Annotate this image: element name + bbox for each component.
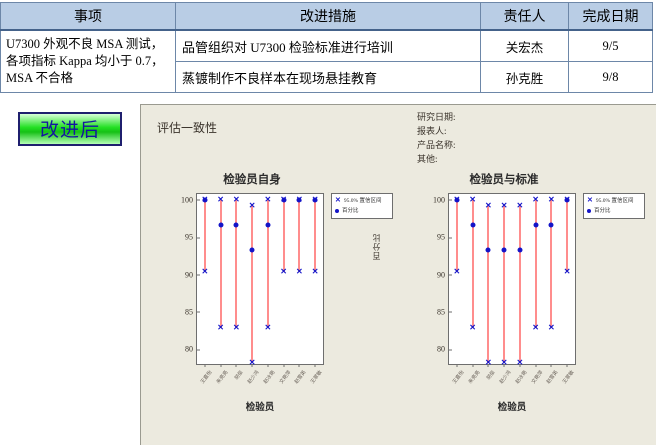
x-axis-tick-label: 朱亮亮 bbox=[466, 369, 481, 385]
confidence-interval-bar bbox=[204, 200, 206, 272]
x-axis-tick-label: 王嘉怡 bbox=[451, 369, 466, 385]
y-axis-tick: 85 bbox=[415, 307, 449, 316]
column-header-owner: 责任人 bbox=[481, 3, 569, 31]
dot-marker-icon bbox=[587, 209, 591, 213]
x-axis-tick-label: 朱亮亮 bbox=[214, 369, 229, 385]
column-header-date: 完成日期 bbox=[569, 3, 653, 31]
x-axis-tick bbox=[504, 364, 505, 367]
ci-endpoint-marker: ✕ bbox=[217, 196, 224, 204]
x-axis-tick bbox=[488, 364, 489, 367]
other-label: 其他: bbox=[417, 153, 456, 167]
y-axis-tick: 100 bbox=[163, 195, 197, 204]
percent-point-marker bbox=[533, 222, 538, 227]
percent-point-marker bbox=[470, 222, 475, 227]
x-axis-tick-label: 赵雪英 bbox=[545, 369, 560, 385]
ci-endpoint-marker: ✕ bbox=[233, 196, 240, 204]
confidence-interval-bar bbox=[487, 206, 489, 363]
plot-area: 80859095100✕✕王嘉怡✕✕朱亮亮✕✕胡俊✕✕赵少鸿✕✕赵冰艳✕✕文艳萍… bbox=[196, 193, 324, 365]
ci-endpoint-marker: ✕ bbox=[517, 202, 524, 210]
x-axis-tick bbox=[236, 364, 237, 367]
legend-label: 百分比 bbox=[594, 207, 611, 215]
ci-endpoint-marker: ✕ bbox=[280, 268, 287, 276]
y-axis-tick: 80 bbox=[415, 345, 449, 354]
due-date: 9/5 bbox=[569, 30, 653, 62]
x-axis-tick-label: 王翠敏 bbox=[309, 369, 324, 385]
reporter-label: 报表人: bbox=[417, 125, 456, 139]
legend-item-ci: ✕ 95.0% 置信区间 bbox=[335, 196, 390, 207]
ci-endpoint-marker: ✕ bbox=[469, 196, 476, 204]
x-axis-tick-label: 赵雪英 bbox=[293, 369, 308, 385]
ci-endpoint-marker: ✕ bbox=[469, 324, 476, 332]
confidence-interval-bar bbox=[314, 200, 316, 272]
ci-endpoint-marker: ✕ bbox=[217, 324, 224, 332]
x-axis-tick bbox=[472, 364, 473, 367]
percent-point-marker bbox=[202, 197, 207, 202]
ci-endpoint-marker: ✕ bbox=[265, 324, 272, 332]
ci-endpoint-marker: ✕ bbox=[548, 324, 555, 332]
confidence-interval-bar bbox=[267, 200, 269, 328]
percent-point-marker bbox=[281, 197, 286, 202]
x-axis-tick-label: 王嘉怡 bbox=[199, 369, 214, 385]
plot-area: 80859095100✕✕王嘉怡✕✕朱亮亮✕✕胡俊✕✕赵少鸿✕✕赵冰艳✕✕文艳萍… bbox=[448, 193, 576, 365]
y-axis-title: 百分比 bbox=[371, 233, 382, 260]
ci-endpoint-marker: ✕ bbox=[532, 324, 539, 332]
x-axis-tick-label: 文艳萍 bbox=[529, 369, 544, 385]
report-title: 评估一致性 bbox=[157, 119, 217, 136]
confidence-interval-bar bbox=[503, 206, 505, 363]
study-date-label: 研究日期: bbox=[417, 111, 456, 125]
confidence-interval-bar bbox=[220, 200, 222, 328]
dot-marker-icon bbox=[335, 209, 339, 213]
legend-label: 百分比 bbox=[342, 207, 359, 215]
percent-point-marker bbox=[297, 197, 302, 202]
x-axis-tick bbox=[519, 364, 520, 367]
confidence-interval-bar bbox=[535, 200, 537, 328]
table-header-row: 事项 改进措施 责任人 完成日期 bbox=[1, 3, 653, 31]
confidence-interval-bar bbox=[550, 200, 552, 328]
ci-endpoint-marker: ✕ bbox=[233, 324, 240, 332]
ci-endpoint-marker: ✕ bbox=[501, 202, 508, 210]
x-axis-tick bbox=[567, 364, 568, 367]
y-axis-tick: 90 bbox=[163, 270, 197, 279]
legend-item-percent: 百分比 bbox=[587, 207, 642, 215]
chart-appraiser-vs-standard: 检验员与标准 百分比 80859095100✕✕王嘉怡✕✕朱亮亮✕✕胡俊✕✕赵少… bbox=[399, 171, 649, 443]
percent-point-marker bbox=[565, 197, 570, 202]
percent-point-marker bbox=[250, 247, 255, 252]
y-axis-tick: 85 bbox=[163, 307, 197, 316]
confidence-interval-bar bbox=[235, 200, 237, 328]
x-axis-tick bbox=[535, 364, 536, 367]
legend-label: 95.0% 置信区间 bbox=[596, 197, 634, 205]
study-info-block: 研究日期: 报表人: 产品名称: 其他: bbox=[417, 111, 456, 167]
ci-endpoint-marker: ✕ bbox=[249, 202, 256, 210]
x-axis-tick-label: 赵少鸿 bbox=[246, 369, 261, 385]
legend-item-percent: 百分比 bbox=[335, 207, 390, 215]
x-axis-tick bbox=[252, 364, 253, 367]
chart-title: 检验员自身 bbox=[147, 171, 357, 187]
percent-point-marker bbox=[502, 247, 507, 252]
x-axis-tick-label: 胡俊 bbox=[233, 369, 245, 381]
y-axis-tick: 100 bbox=[415, 195, 449, 204]
confidence-interval-bar bbox=[566, 200, 568, 272]
chart-legend: ✕ 95.0% 置信区间 百分比 bbox=[583, 193, 645, 219]
chart-title: 检验员与标准 bbox=[399, 171, 609, 187]
percent-point-marker bbox=[234, 222, 239, 227]
y-axis-tick: 90 bbox=[415, 270, 449, 279]
x-axis-title: 检验员 bbox=[448, 399, 576, 413]
percent-point-marker bbox=[486, 247, 491, 252]
ci-endpoint-marker: ✕ bbox=[202, 268, 209, 276]
ci-endpoint-marker: ✕ bbox=[296, 268, 303, 276]
chart-legend: ✕ 95.0% 置信区间 百分比 bbox=[331, 193, 393, 219]
table-row: U7300 外观不良 MSA 测试，各项指标 Kappa 均小于 0.7，MSA… bbox=[1, 30, 653, 62]
column-header-measure: 改进措施 bbox=[176, 3, 481, 31]
confidence-interval-bar bbox=[251, 206, 253, 363]
confidence-interval-bar bbox=[519, 206, 521, 363]
legend-item-ci: ✕ 95.0% 置信区间 bbox=[587, 196, 642, 207]
y-axis-tick: 95 bbox=[415, 233, 449, 242]
x-axis-tick-label: 赵少鸿 bbox=[498, 369, 513, 385]
x-axis-tick-label: 文艳萍 bbox=[277, 369, 292, 385]
x-axis-tick bbox=[456, 364, 457, 367]
x-axis-tick bbox=[299, 364, 300, 367]
y-axis-tick: 80 bbox=[163, 345, 197, 354]
x-marker-icon: ✕ bbox=[335, 196, 341, 207]
x-axis-tick-label: 胡俊 bbox=[485, 369, 497, 381]
x-axis-tick bbox=[220, 364, 221, 367]
issue-description: U7300 外观不良 MSA 测试，各项指标 Kappa 均小于 0.7，MSA… bbox=[1, 30, 176, 93]
column-header-item: 事项 bbox=[1, 3, 176, 31]
percent-point-marker bbox=[218, 222, 223, 227]
percent-point-marker bbox=[517, 247, 522, 252]
chart-within-appraiser: 检验员自身 百分比 80859095100✕✕王嘉怡✕✕朱亮亮✕✕胡俊✕✕赵少鸿… bbox=[147, 171, 397, 443]
ci-endpoint-marker: ✕ bbox=[265, 196, 272, 204]
y-axis-tick: 95 bbox=[163, 233, 197, 242]
measure-text: 蒸镀制作不良样本在现场悬挂教育 bbox=[176, 62, 481, 93]
confidence-interval-bar bbox=[298, 200, 300, 272]
percent-point-marker bbox=[313, 197, 318, 202]
x-axis-tick-label: 赵冰艳 bbox=[514, 369, 529, 385]
confidence-interval-bar bbox=[456, 200, 458, 272]
measure-text: 品管组织对 U7300 检验标准进行培训 bbox=[176, 30, 481, 62]
x-axis-tick-label: 赵冰艳 bbox=[262, 369, 277, 385]
due-date: 9/8 bbox=[569, 62, 653, 93]
ci-endpoint-marker: ✕ bbox=[548, 196, 555, 204]
ci-endpoint-marker: ✕ bbox=[454, 268, 461, 276]
improvement-action-table: 事项 改进措施 责任人 完成日期 U7300 外观不良 MSA 测试，各项指标 … bbox=[0, 2, 653, 93]
x-axis-tick bbox=[267, 364, 268, 367]
owner-name: 关宏杰 bbox=[481, 30, 569, 62]
x-axis-tick bbox=[204, 364, 205, 367]
x-marker-icon: ✕ bbox=[587, 196, 593, 207]
owner-name: 孙克胜 bbox=[481, 62, 569, 93]
x-axis-tick-label: 王翠敏 bbox=[561, 369, 576, 385]
gage-rr-report-panel: 评估一致性 研究日期: 报表人: 产品名称: 其他: 检验员自身 百分比 808… bbox=[140, 104, 656, 445]
x-axis-tick bbox=[283, 364, 284, 367]
after-improvement-badge: 改进后 bbox=[18, 112, 122, 146]
percent-point-marker bbox=[549, 222, 554, 227]
confidence-interval-bar bbox=[283, 200, 285, 272]
x-axis-title: 检验员 bbox=[196, 399, 324, 413]
confidence-interval-bar bbox=[472, 200, 474, 328]
ci-endpoint-marker: ✕ bbox=[532, 196, 539, 204]
x-axis-tick bbox=[551, 364, 552, 367]
legend-label: 95.0% 置信区间 bbox=[344, 197, 382, 205]
ci-endpoint-marker: ✕ bbox=[312, 268, 319, 276]
product-name-label: 产品名称: bbox=[417, 139, 456, 153]
percent-point-marker bbox=[454, 197, 459, 202]
percent-point-marker bbox=[265, 222, 270, 227]
ci-endpoint-marker: ✕ bbox=[564, 268, 571, 276]
ci-endpoint-marker: ✕ bbox=[485, 202, 492, 210]
x-axis-tick bbox=[315, 364, 316, 367]
